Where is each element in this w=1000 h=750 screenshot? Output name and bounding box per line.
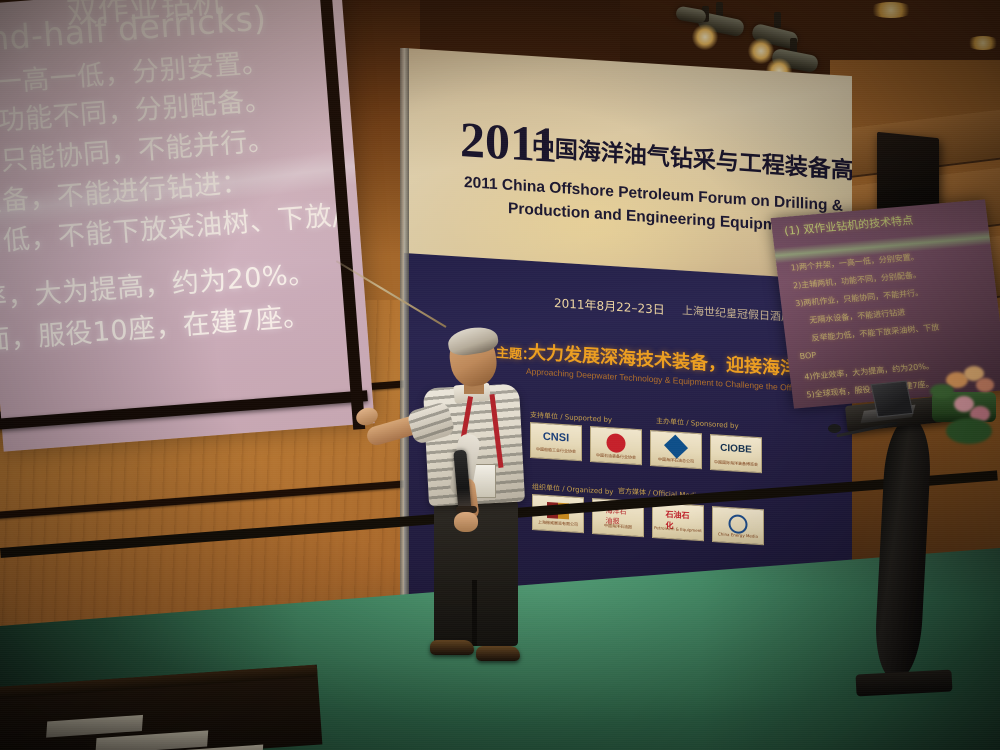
organizer-logo-3: China Energy Media xyxy=(712,506,764,545)
flower-bloom-3 xyxy=(976,378,994,392)
sponsor-logo-2: 中国海洋石油总公司 xyxy=(650,430,702,469)
lectern-base xyxy=(855,670,952,697)
sponsor-logo-1-mark xyxy=(607,433,626,453)
sponsor-logo-1: 中国石油装备行业协会 xyxy=(590,426,642,465)
stair-tread-2 xyxy=(95,730,208,750)
left-projection-screen: 双作业钻机 (and-half derricks) ，一高一低，分别安置。 ，功… xyxy=(0,0,375,452)
sponsor-logo-1-sub: 中国石油装备行业协会 xyxy=(591,452,641,461)
speaker-shoe-right xyxy=(476,646,520,661)
sponsor-logo-2-mark xyxy=(664,435,688,459)
organizer-logo-2-sub: Petroleum & Equipment xyxy=(653,525,703,533)
organizer-logo-2: 石油石化 Petroleum & Equipment xyxy=(652,502,704,541)
sponsor-logo-3-sub: 中国国际海洋装备博览会 xyxy=(711,459,761,468)
sponsor-logo-3-mark: CIOBE xyxy=(720,443,752,456)
speaker-leg-gap xyxy=(472,580,477,646)
right-slide-heading: (1) 双作业钻机的技术特点 xyxy=(783,212,914,239)
right-slide-line-5: BOP xyxy=(799,351,817,361)
downlight-2 xyxy=(966,36,1000,50)
laptop-screen xyxy=(870,380,913,417)
right-slide-line-4: 反举能力低，不能下放采油树、下放 xyxy=(811,322,940,344)
keynote-speaker xyxy=(380,330,570,670)
downlight-1 xyxy=(868,2,914,18)
lectern xyxy=(862,400,952,700)
stair-tread-1 xyxy=(46,715,143,738)
presenter-laptop xyxy=(862,382,914,422)
flower-foliage-2 xyxy=(946,418,992,444)
conference-photo-scene: 双作业钻机 (and-half derricks) ，一高一低，分别安置。 ，功… xyxy=(0,0,1000,750)
gooseneck-microphone-head xyxy=(828,424,841,433)
organizer-logo-3-mark xyxy=(729,514,748,534)
organizer-logo-3-sub: China Energy Media xyxy=(713,531,763,539)
organizer-logo-1-sub: 中国海洋石油报 xyxy=(593,522,643,531)
sponsor-logo-2-sub: 中国海洋石油总公司 xyxy=(651,456,701,465)
right-slide-line-3: 无隔水设备，不能进行钻进 xyxy=(809,307,906,326)
sponsor-logo-3: CIOBE 中国国际海洋装备博览会 xyxy=(710,434,762,473)
speaker-shoe-left xyxy=(430,640,474,655)
speaker-left-hand xyxy=(454,512,478,532)
floral-arrangement-secondary xyxy=(946,392,1000,452)
lectern-column xyxy=(873,418,933,680)
